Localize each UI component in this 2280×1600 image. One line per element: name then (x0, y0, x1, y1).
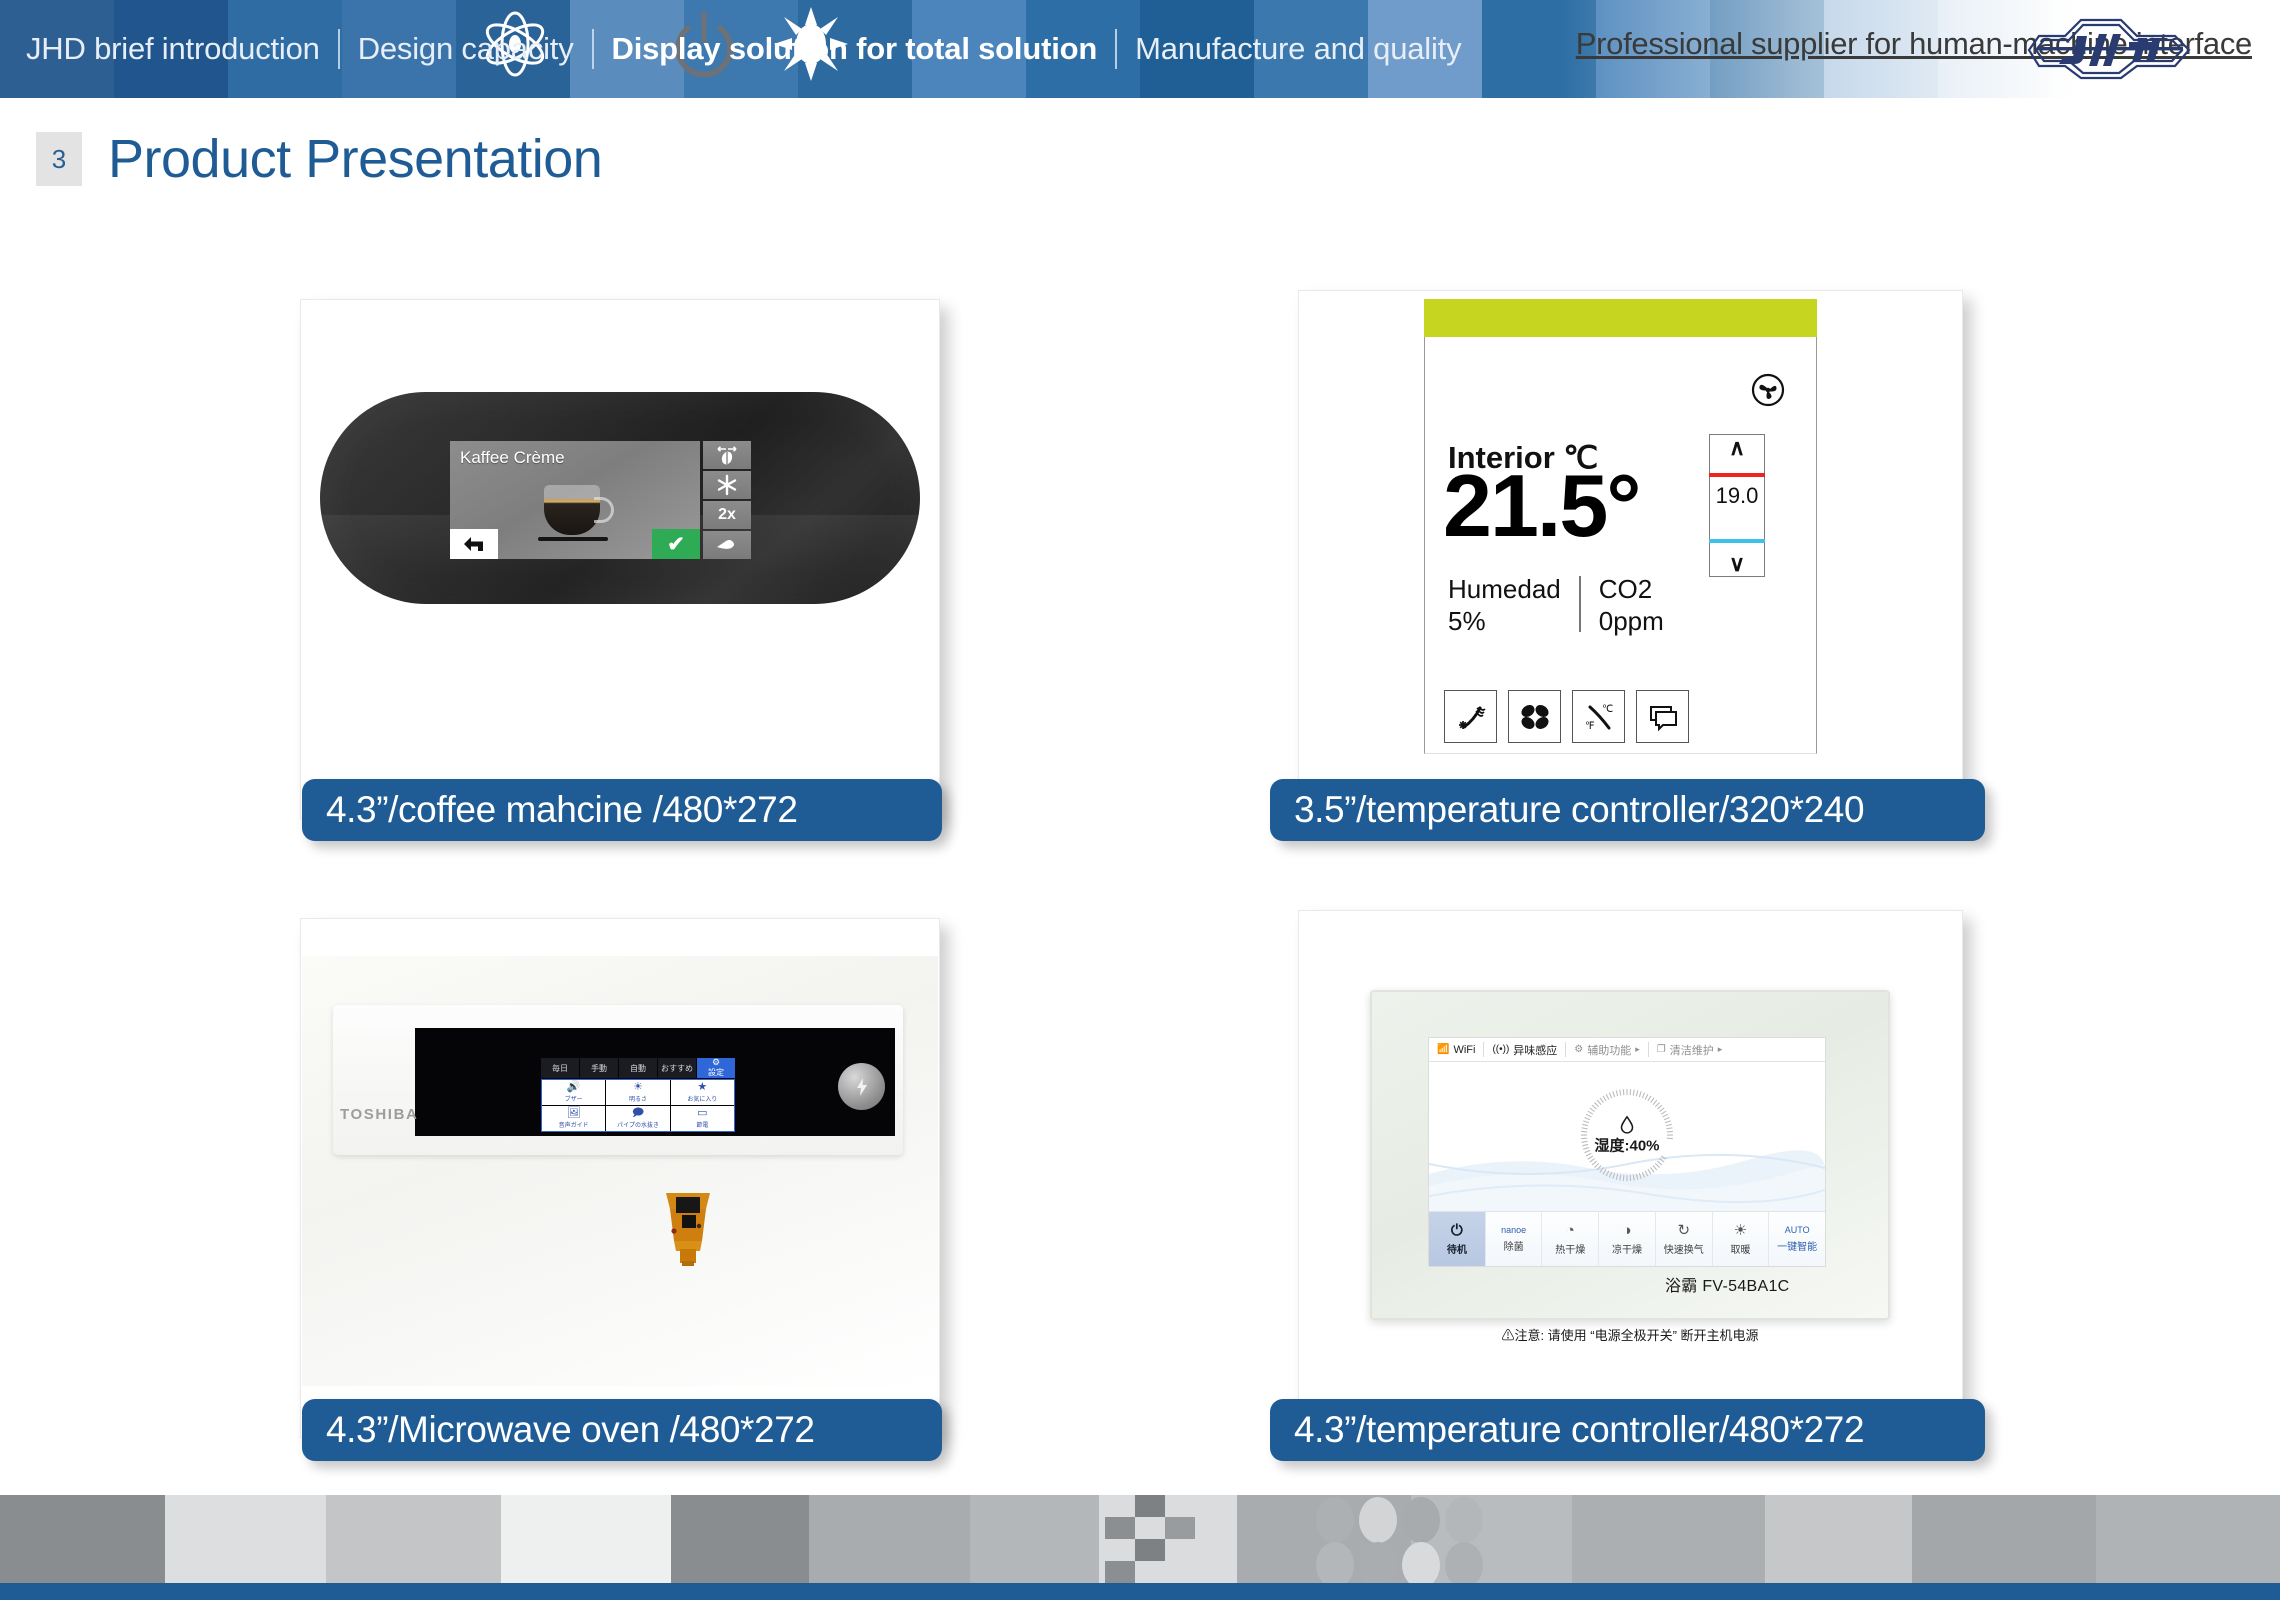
microwave-tab-label: 設定 (708, 1067, 724, 1078)
cool-dry-icon: ◑ (1622, 1223, 1631, 1238)
bath-controller-mode-bar: ⏻待机nanoe除菌◔热干燥◑凉干燥↻快速换气☀取暖AUTO一键智能 (1429, 1211, 1825, 1266)
co2-value: 0ppm (1599, 606, 1664, 638)
celsius-fahrenheit-icon[interactable]: ℃ ℉ (1572, 690, 1625, 743)
chevron-down-icon[interactable]: ∨ (1729, 551, 1745, 576)
checkerboard-pattern (1075, 1495, 1255, 1583)
card-caption: 3.5”/temperature controller/320*240 (1270, 779, 1985, 841)
power-icon: ⏻ (1451, 1223, 1463, 1238)
bath-mode-button-4[interactable]: ↻快速换气 (1656, 1212, 1713, 1266)
humidity-display: 湿度:40% (1594, 1134, 1659, 1155)
microwave-button-label: パイプの水抜き (617, 1120, 659, 1129)
chevron-up-icon[interactable]: ∧ (1729, 435, 1745, 460)
drink-label: Kaffee Crème (460, 448, 565, 468)
mode-icon-row: ℃ ℉ (1444, 690, 1689, 743)
setpoint-stepper[interactable]: ∧ 19.0 ∨ (1709, 434, 1765, 577)
bath-mode-label: 快速换气 (1664, 1241, 1704, 1256)
microwave-button-label: 節電 (696, 1120, 708, 1129)
bath-mode-label: 待机 (1447, 1241, 1467, 1256)
microwave-button-3[interactable]: 🖼音声ガイド (542, 1106, 605, 1131)
temperature-value: 21.5° (1443, 462, 1639, 550)
setpoint-value: 19.0 (1716, 483, 1759, 509)
microwave-button-1[interactable]: ☀明るさ (606, 1080, 669, 1105)
microwave-tab-2[interactable]: 自動 (619, 1058, 657, 1078)
double-shot-icon[interactable]: 2x (703, 501, 751, 529)
microwave-button-2[interactable]: ★お気に入り (671, 1080, 734, 1105)
star-icon: ★ (697, 1082, 707, 1093)
bath-mode-button-1[interactable]: nanoe除菌 (1486, 1212, 1543, 1266)
microwave-screen-ui: 毎日手動自動おすすめ⚙設定 🔊ブザー☀明るさ★お気に入り🖼音声ガイド🗩パイプの水… (541, 1058, 735, 1130)
bath-topbar-item-2[interactable]: ⚙辅助功能▸ (1566, 1038, 1648, 1061)
sun-heat-icon: ☀ (1734, 1223, 1747, 1238)
nav-separator (338, 29, 340, 69)
page-title-row: 3 Product Presentation (0, 128, 602, 190)
bath-topbar-item-0[interactable]: 📶WiFi (1429, 1038, 1483, 1061)
messages-icon[interactable] (1636, 690, 1689, 743)
bath-mode-button-5[interactable]: ☀取暖 (1713, 1212, 1770, 1266)
microwave-button-0[interactable]: 🔊ブザー (542, 1080, 605, 1105)
bean-strength-icon[interactable] (703, 441, 751, 469)
bath-mode-button-2[interactable]: ◔热干燥 (1542, 1212, 1599, 1266)
speaker-icon: 🔊 (567, 1082, 581, 1093)
nav-item-1[interactable]: Design capacity (340, 31, 592, 67)
bath-topbar-item-3[interactable]: ❐清洁维护▸ (1649, 1038, 1731, 1061)
setpoint-high-marker (1709, 473, 1765, 477)
chevron-right-icon: ▸ (1635, 1044, 1640, 1055)
slide-number-badge: 3 (36, 132, 82, 186)
microwave-tab-4[interactable]: ⚙設定 (697, 1058, 735, 1078)
back-arrow-icon[interactable] (450, 529, 498, 559)
bath-mode-button-3[interactable]: ◑凉干燥 (1599, 1212, 1656, 1266)
auto-icon: AUTO (1785, 1226, 1810, 1235)
bath-topbar-item-1[interactable]: ((•))异味感应 (1484, 1038, 1565, 1061)
coffee-machine-side-buttons: 2x (703, 441, 751, 559)
bath-topbar-label: 异味感应 (1513, 1042, 1557, 1058)
bath-controller-main: 湿度:40% (1429, 1062, 1825, 1212)
ventilation-icon: ↻ (1677, 1223, 1690, 1238)
heat-cool-icon[interactable] (1444, 690, 1497, 743)
microwave-tab-0[interactable]: 毎日 (541, 1058, 579, 1078)
microwave-button-label: 明るさ (629, 1094, 647, 1103)
co2-label: CO2 (1599, 574, 1664, 606)
bath-mode-label: 除菌 (1504, 1238, 1524, 1253)
humidity-readout: Humedad 5% (1448, 574, 1561, 637)
footer-accent-bar (0, 1583, 2280, 1600)
water-drop-icon (1620, 1116, 1634, 1134)
bath-controller-screen: 📶WiFi((•))异味感应⚙辅助功能▸❐清洁维护▸ 湿度:40% ⏻待机nan… (1428, 1037, 1826, 1267)
fan-circle-icon (1750, 372, 1786, 408)
bath-topbar-label: 辅助功能 (1587, 1042, 1631, 1058)
coffee-cup-image (536, 485, 614, 543)
check-icon[interactable]: ✔ (652, 529, 700, 559)
model-label: 浴霸 FV-54BA1C (1665, 1272, 1790, 1296)
nav-separator (592, 29, 594, 69)
bath-mode-button-6[interactable]: AUTO一键智能 (1769, 1212, 1825, 1266)
wifi-icon: 📶 (1437, 1044, 1449, 1055)
microwave-button-4[interactable]: 🗩パイプの水抜き (606, 1106, 669, 1131)
gear-icon: ⚙ (1574, 1044, 1583, 1055)
jhd-logo (2010, 10, 2210, 88)
status-header-bar (1424, 299, 1817, 337)
nav-item-3[interactable]: Manufacture and quality (1117, 31, 1479, 67)
card-caption: 4.3”/coffee mahcine /480*272 (302, 779, 942, 841)
coffee-machine-screen: Kaffee Crème ✔ (450, 441, 700, 559)
setpoint-low-marker (1709, 539, 1765, 543)
microwave-button-label: お気に入り (687, 1094, 717, 1103)
readout-divider (1579, 576, 1581, 632)
bath-mode-label: 取暖 (1730, 1241, 1750, 1256)
grinder-icon[interactable] (703, 531, 751, 559)
hot-dry-icon: ◔ (1566, 1223, 1575, 1238)
voice-guide-icon: 🖼 (567, 1108, 581, 1119)
warning-note: ⚠注意: 请使用 “电源全极开关” 断开主机电源 (1370, 1325, 1890, 1344)
filter-icon: ❐ (1657, 1044, 1666, 1055)
nav-separator (1115, 29, 1117, 69)
bath-topbar-label: 清洁维护 (1670, 1042, 1714, 1058)
humidity-label: Humedad (1448, 574, 1561, 606)
gear-icon: ⚙ (712, 1058, 720, 1067)
fan-blade-icon[interactable] (1508, 690, 1561, 743)
bath-mode-label: 凉干燥 (1612, 1241, 1642, 1256)
bath-mode-button-0[interactable]: ⏻待机 (1429, 1212, 1486, 1266)
microwave-tab-3[interactable]: おすすめ (658, 1058, 696, 1078)
svg-text:℉: ℉ (1585, 721, 1595, 732)
ellipse-pattern (1310, 1495, 1500, 1583)
card-caption: 4.3”/temperature controller/480*272 (1270, 1399, 1985, 1461)
humidity-value: 5% (1448, 606, 1561, 638)
flex-cable-icon (652, 1193, 724, 1285)
nav-items: JHD brief introductionDesign capacityDis… (0, 0, 1479, 98)
eco-icon: ▭ (697, 1108, 707, 1119)
chevron-right-icon: ▸ (1718, 1044, 1723, 1055)
microwave-tabs: 毎日手動自動おすすめ⚙設定 (541, 1058, 735, 1078)
nav-item-2[interactable]: Display solution for total solution (594, 31, 1116, 67)
bath-mode-label: 热干燥 (1555, 1241, 1585, 1256)
nav-item-0[interactable]: JHD brief introduction (8, 31, 338, 67)
secondary-readouts: Humedad 5% CO2 0ppm (1448, 574, 1664, 637)
brightness-icon: ☀ (633, 1082, 643, 1093)
microwave-button-label: ブザー (565, 1094, 583, 1103)
page-title: Product Presentation (108, 128, 602, 190)
drain-icon: 🗩 (632, 1108, 644, 1119)
co2-readout: CO2 0ppm (1599, 574, 1664, 637)
microwave-button-5[interactable]: ▭節電 (671, 1106, 734, 1131)
sensor-icon: ((•)) (1492, 1044, 1509, 1055)
bath-mode-label: 一键智能 (1777, 1238, 1817, 1253)
svg-text:℃: ℃ (1602, 704, 1613, 715)
brand-label: TOSHIBA (340, 1106, 418, 1123)
microwave-tab-1[interactable]: 手動 (580, 1058, 618, 1078)
card-caption: 4.3”/Microwave oven /480*272 (302, 1399, 942, 1461)
microwave-button-grid: 🔊ブザー☀明るさ★お気に入り🖼音声ガイド🗩パイプの水抜き▭節電 (541, 1079, 735, 1132)
microwave-knob[interactable] (838, 1063, 885, 1110)
bath-topbar-label: WiFi (1453, 1044, 1475, 1056)
microwave-button-label: 音声ガイド (559, 1120, 589, 1129)
bath-controller-topbar: 📶WiFi((•))异味感应⚙辅助功能▸❐清洁维护▸ (1429, 1038, 1825, 1062)
nanoe-icon: nanoe (1501, 1226, 1526, 1235)
snowflake-icon[interactable] (703, 471, 751, 499)
